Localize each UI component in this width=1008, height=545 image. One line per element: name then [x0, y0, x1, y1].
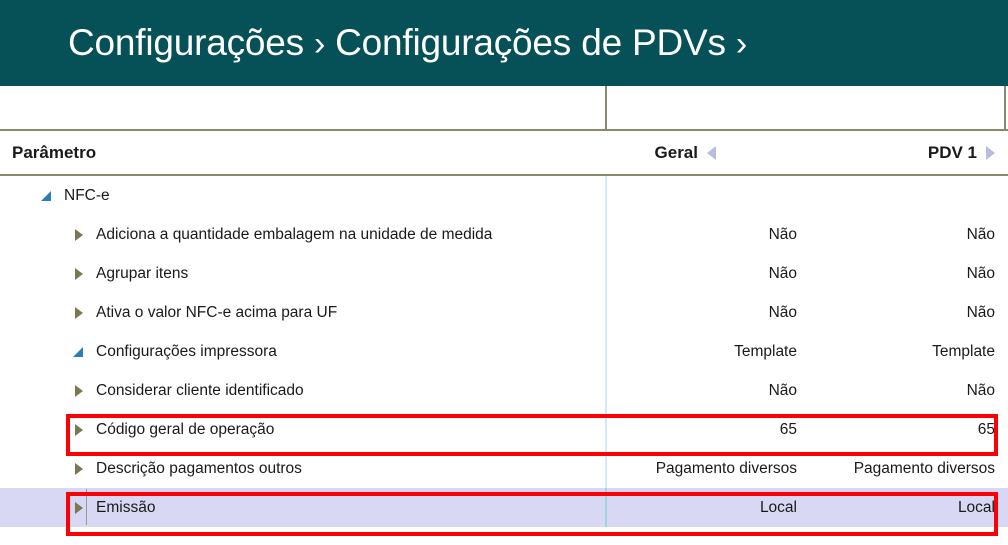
table-row[interactable]: Descrição pagamentos outrosPagamento div…	[0, 449, 1008, 488]
row-parameter-label: Emissão	[96, 499, 155, 517]
row-value-pdv1[interactable]: Não	[799, 215, 995, 254]
breadcrumb-separator-icon: ›	[314, 27, 325, 61]
row-parameter-label: Descrição pagamentos outros	[96, 460, 302, 478]
row-parameter-cell[interactable]: Ativa o valor NFC-e acima para UF	[0, 293, 677, 332]
breadcrumb-item-configuracoes[interactable]: Configurações	[68, 22, 304, 64]
row-value-pdv1[interactable]: Não	[799, 371, 995, 410]
row-parameter-label: Considerar cliente identificado	[96, 382, 304, 400]
settings-grid: Parâmetro Geral PDV 1 NFC-eAdiciona a qu…	[0, 86, 1008, 545]
expander-expand-icon[interactable]	[72, 267, 86, 281]
grid-rows: NFC-eAdiciona a quantidade embalagem na …	[0, 176, 1008, 527]
table-row[interactable]: Ativa o valor NFC-e acima para UFNãoNão	[0, 293, 1008, 332]
row-value-geral[interactable]: 65	[607, 410, 799, 449]
expander-collapse-icon[interactable]	[72, 345, 86, 359]
row-parameter-cell[interactable]: NFC-e	[0, 176, 645, 215]
row-value-pdv1[interactable]: Não	[799, 254, 995, 293]
row-value-geral[interactable]: Pagamento diversos	[607, 449, 799, 488]
row-value-pdv1[interactable]: Pagamento diversos	[799, 449, 995, 488]
row-value-geral[interactable]: Não	[607, 215, 799, 254]
table-row[interactable]: Considerar cliente identificadoNãoNão	[0, 371, 1008, 410]
row-parameter-label: Ativa o valor NFC-e acima para UF	[96, 304, 337, 322]
row-parameter-cell[interactable]: Descrição pagamentos outros	[0, 449, 677, 488]
row-parameter-cell[interactable]: Agrupar itens	[0, 254, 677, 293]
row-value-pdv1[interactable]: Template	[799, 332, 995, 371]
row-value-pdv1[interactable]: Local	[799, 488, 995, 527]
breadcrumb-item-configuracoes-pdvs[interactable]: Configurações de PDVs	[335, 22, 726, 64]
column-header-parametro[interactable]: Parâmetro	[12, 131, 96, 174]
row-value-pdv1[interactable]: Não	[799, 293, 995, 332]
table-row[interactable]: NFC-e	[0, 176, 1008, 215]
expander-expand-icon[interactable]	[72, 228, 86, 242]
row-value-geral[interactable]: Template	[607, 332, 799, 371]
grid-filter-row[interactable]	[0, 86, 1008, 131]
row-value-pdv1[interactable]: 65	[799, 410, 995, 449]
row-value-geral[interactable]: Não	[607, 371, 799, 410]
expander-expand-icon[interactable]	[72, 462, 86, 476]
expander-expand-icon[interactable]	[72, 423, 86, 437]
row-value-geral[interactable]: Não	[607, 293, 799, 332]
pdv-settings-screen: Configurações › Configurações de PDVs › …	[0, 0, 1008, 545]
row-value-geral[interactable]	[607, 176, 799, 215]
table-row[interactable]: Configurações impressoraTemplateTemplate	[0, 332, 1008, 371]
column-header-geral[interactable]: Geral	[506, 131, 736, 174]
page-header-banner: Configurações › Configurações de PDVs ›	[0, 0, 1008, 86]
row-parameter-label: Configurações impressora	[96, 343, 277, 361]
expander-expand-icon[interactable]	[72, 501, 86, 515]
row-parameter-cell[interactable]: Código geral de operação	[0, 410, 677, 449]
column-header-parametro-label: Parâmetro	[12, 143, 96, 163]
column-header-pdv1-label: PDV 1	[928, 144, 977, 161]
table-row[interactable]: Código geral de operação6565	[0, 410, 1008, 449]
expander-collapse-icon[interactable]	[40, 189, 54, 203]
row-parameter-label: NFC-e	[64, 187, 110, 205]
triangle-left-icon[interactable]	[707, 146, 716, 160]
row-parameter-cell[interactable]: Configurações impressora	[0, 332, 677, 371]
breadcrumb-separator-icon-2: ›	[736, 27, 747, 61]
row-parameter-cell[interactable]: Considerar cliente identificado	[0, 371, 677, 410]
column-header-geral-label: Geral	[655, 144, 698, 161]
row-parameter-label: Adiciona a quantidade embalagem na unida…	[96, 226, 492, 244]
table-row[interactable]: EmissãoLocalLocal	[0, 488, 1008, 527]
row-value-geral[interactable]: Local	[607, 488, 799, 527]
triangle-right-icon[interactable]	[986, 146, 995, 160]
expander-expand-icon[interactable]	[72, 384, 86, 398]
expander-expand-icon[interactable]	[72, 306, 86, 320]
grid-header-row: Parâmetro Geral PDV 1	[0, 131, 1008, 176]
row-parameter-cell[interactable]: Emissão	[0, 488, 677, 527]
table-row[interactable]: Adiciona a quantidade embalagem na unida…	[0, 215, 1008, 254]
row-parameter-label: Código geral de operação	[96, 421, 274, 439]
column-divider-2	[1004, 86, 1006, 129]
row-value-pdv1[interactable]	[799, 176, 995, 215]
column-divider-1	[605, 86, 607, 129]
row-value-geral[interactable]: Não	[607, 254, 799, 293]
column-header-pdv1[interactable]: PDV 1	[736, 131, 998, 174]
breadcrumb: Configurações › Configurações de PDVs ›	[0, 22, 747, 64]
row-parameter-label: Agrupar itens	[96, 265, 188, 283]
table-row[interactable]: Agrupar itensNãoNão	[0, 254, 1008, 293]
row-parameter-cell[interactable]: Adiciona a quantidade embalagem na unida…	[0, 215, 677, 254]
